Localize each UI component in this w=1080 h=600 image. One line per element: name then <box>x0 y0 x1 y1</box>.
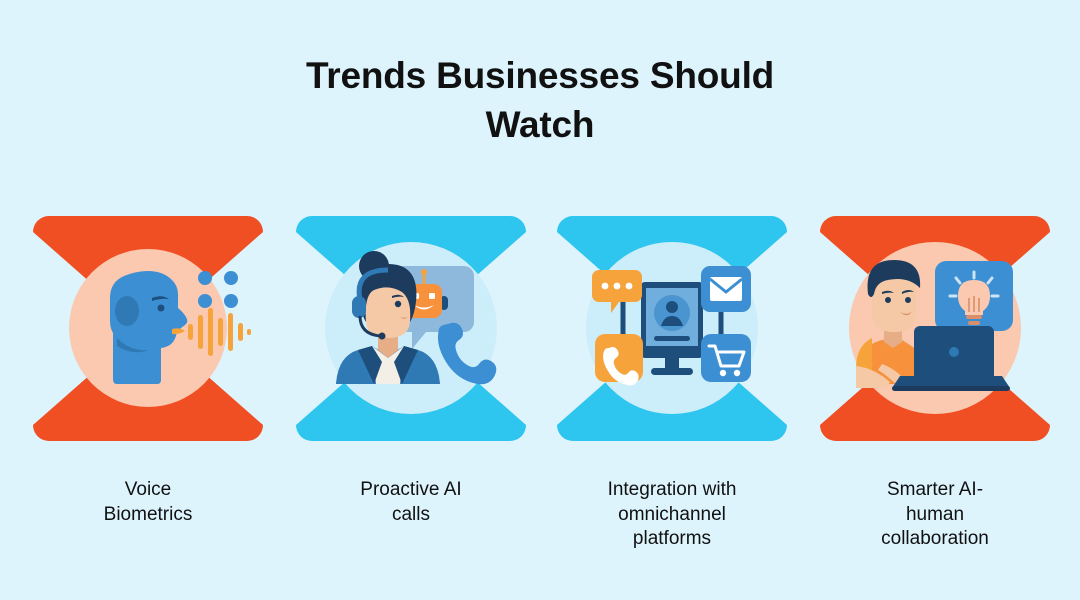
trend-card-ai-human-collaboration[interactable]: Smarter AI- human collaboration <box>820 216 1050 552</box>
omnichannel-monitor-hub-icon <box>557 216 787 441</box>
infographic-page: Trends Businesses Should Watch <box>0 0 1080 600</box>
card-caption-proactive-ai-calls: Proactive AI calls <box>296 478 526 527</box>
caption-line: omnichannel <box>618 504 726 525</box>
caption-line: platforms <box>633 528 711 549</box>
caption-line: Smarter AI- <box>887 479 983 500</box>
caption-line: collaboration <box>881 528 989 549</box>
card-graphic <box>33 216 263 441</box>
trend-card-omnichannel-integration[interactable]: Integration with omnichannel platforms <box>557 216 787 552</box>
trend-card-proactive-ai-calls[interactable]: Proactive AI calls <box>296 216 526 527</box>
caption-line: human <box>906 504 964 525</box>
card-graphic <box>820 216 1050 441</box>
card-caption-ai-human-collaboration: Smarter AI- human collaboration <box>820 478 1050 552</box>
caption-line: Integration with <box>608 479 737 500</box>
card-caption-voice-biometrics: Voice Biometrics <box>33 478 263 527</box>
trend-card-row: Voice Biometrics <box>0 216 1080 556</box>
card-graphic <box>557 216 787 441</box>
headset-agent-robot-chat-icon <box>296 216 526 441</box>
speaking-head-voice-wave-icon <box>33 216 263 441</box>
caption-line: calls <box>392 504 430 525</box>
page-title-line-2: Watch <box>0 101 1080 150</box>
trend-card-voice-biometrics[interactable]: Voice Biometrics <box>33 216 263 527</box>
page-title: Trends Businesses Should Watch <box>0 52 1080 150</box>
caption-line: Voice <box>125 479 171 500</box>
caption-line: Proactive AI <box>360 479 461 500</box>
card-graphic <box>296 216 526 441</box>
caption-line: Biometrics <box>104 504 193 525</box>
page-title-line-1: Trends Businesses Should <box>0 52 1080 101</box>
person-laptop-idea-icon <box>820 216 1050 441</box>
card-caption-omnichannel-integration: Integration with omnichannel platforms <box>557 478 787 552</box>
